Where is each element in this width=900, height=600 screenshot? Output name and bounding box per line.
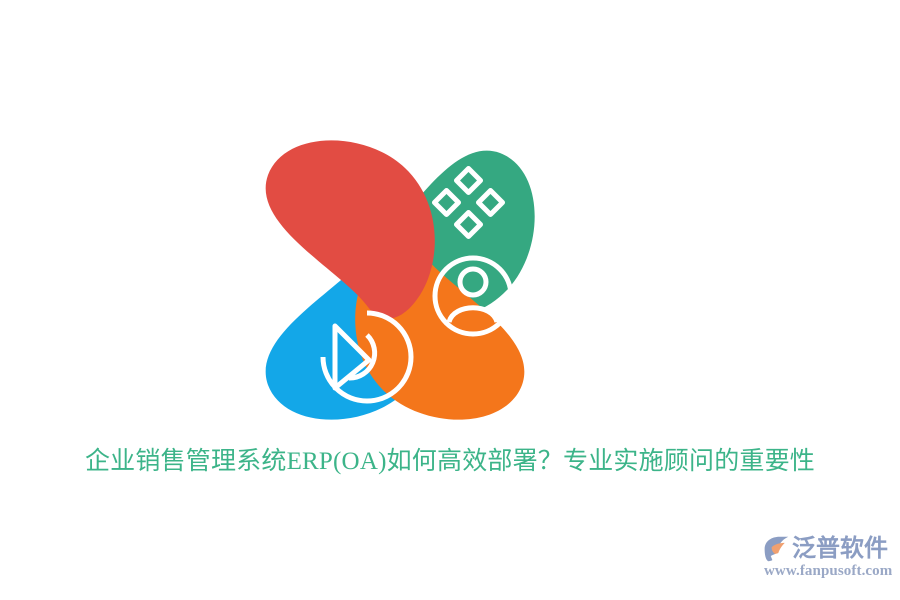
page-title: 企业销售管理系统ERP(OA)如何高效部署？专业实施顾问的重要性 [0, 443, 900, 481]
banner-canvas: 企业销售管理系统ERP(OA)如何高效部署？专业实施顾问的重要性 泛普软件 ww… [0, 0, 900, 600]
four-petal-pinwheel-logo [245, 130, 545, 430]
watermark-url: www.fanpusoft.com [764, 563, 892, 580]
fanpu-logo-icon [762, 535, 790, 563]
watermark: 泛普软件 www.fanpusoft.com [762, 533, 898, 585]
watermark-brand-name: 泛普软件 [792, 535, 888, 563]
watermark-brand: 泛普软件 [762, 533, 888, 565]
